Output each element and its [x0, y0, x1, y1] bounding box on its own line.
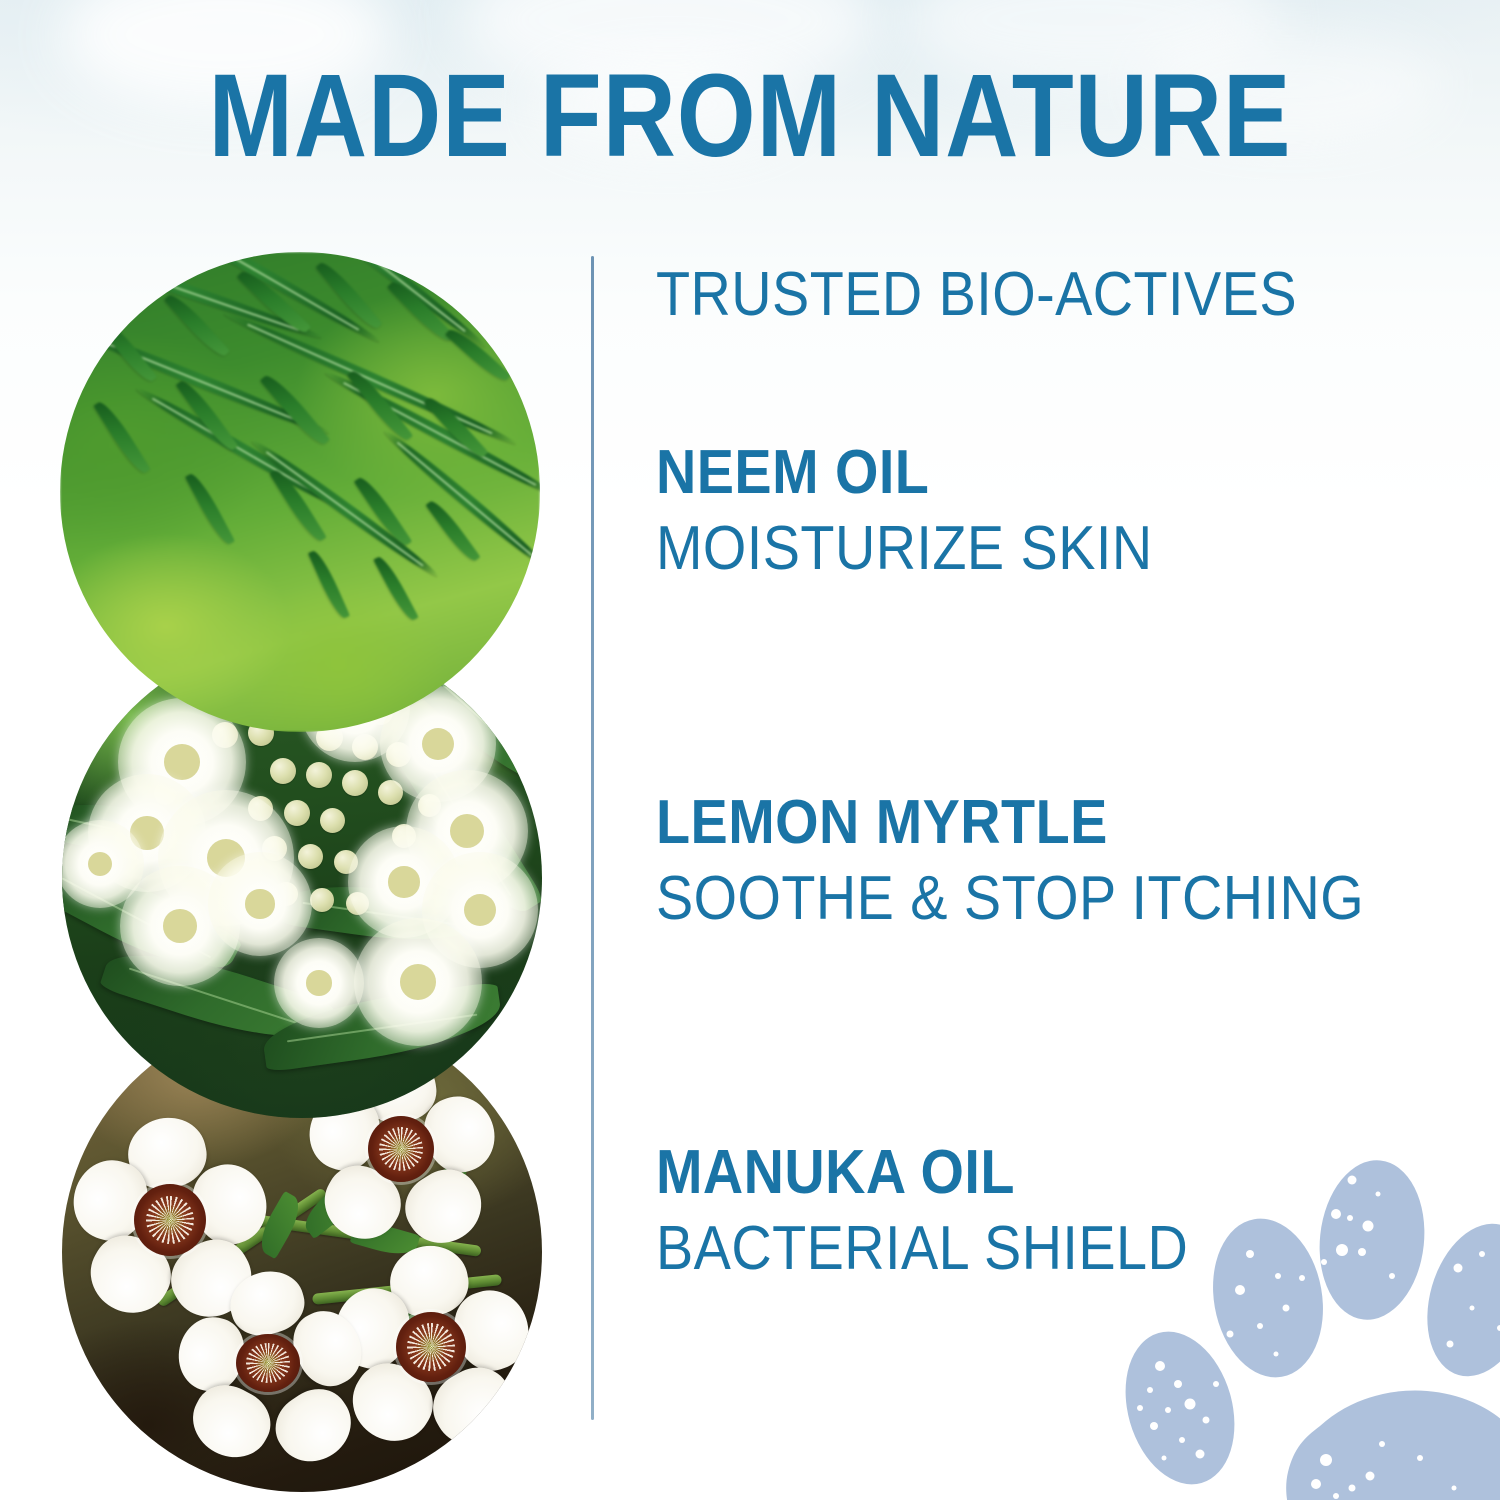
- ingredient-name-manuka: MANUKA OIL: [656, 1140, 1188, 1206]
- trusted-bio-actives-label: TRUSTED BIO-ACTIVES: [656, 262, 1297, 328]
- neem-leaves-photo: [60, 252, 540, 732]
- paw-print-icon: [1120, 1158, 1500, 1500]
- ingredient-benefit-neem: MOISTURIZE SKIN: [656, 516, 1153, 582]
- vertical-divider: [591, 256, 594, 1420]
- ingredient-block-lemon-myrtle: LEMON MYRTLE SOOTHE & STOP ITCHING: [656, 790, 1443, 932]
- infographic-canvas: MADE FROM NATURE: [0, 0, 1500, 1500]
- ingredient-block-neem: NEEM OIL MOISTURIZE SKIN: [656, 440, 1208, 582]
- ingredient-name-neem: NEEM OIL: [656, 440, 1153, 506]
- ingredient-benefit-lemon-myrtle: SOOTHE & STOP ITCHING: [656, 866, 1364, 932]
- ingredient-image-neem: [60, 252, 540, 732]
- ingredient-name-lemon-myrtle: LEMON MYRTLE: [656, 790, 1364, 856]
- ingredient-benefit-manuka: BACTERIAL SHIELD: [656, 1216, 1188, 1282]
